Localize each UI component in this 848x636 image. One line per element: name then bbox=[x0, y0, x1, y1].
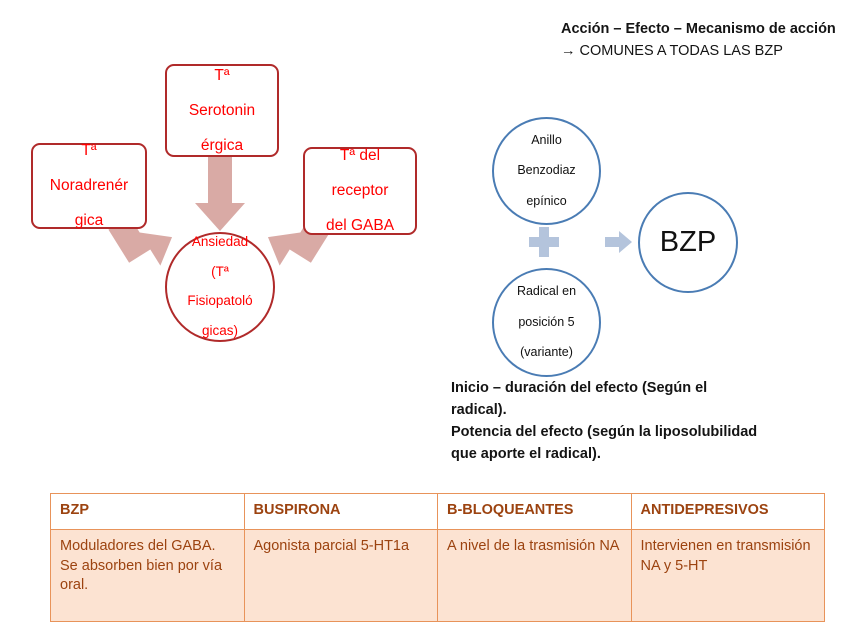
box-receptor-gaba-text: Tª delreceptordel GABA bbox=[305, 147, 415, 235]
circle-ansiedad-line3: Fisiopatoló bbox=[167, 294, 273, 309]
header-text: Acción – Efecto – Mecanismo de acción → … bbox=[561, 18, 846, 62]
header-plain-part: COMUNES A TODAS LAS BZP bbox=[576, 43, 783, 59]
circle-anillo-line2: Benzodiaz bbox=[494, 163, 599, 178]
notes-line4: que aporte el radical). bbox=[451, 446, 601, 462]
circle-radical-line2: posición 5 bbox=[494, 315, 599, 330]
circle-radical-text: Radical enposición 5(variante) bbox=[494, 284, 599, 360]
comparison-table: BZP BUSPIRONA B-BLOQUEANTES ANTIDEPRESIV… bbox=[50, 493, 825, 622]
plus-icon-vertical-bar bbox=[539, 227, 549, 257]
circle-ansiedad-line2: (Tª bbox=[167, 265, 273, 280]
arrow-serotoninergica-to-ansiedad bbox=[195, 157, 245, 231]
notes-line1: Inicio – duración del efecto (Según el bbox=[451, 380, 707, 396]
circle-anillo-line3: epínico bbox=[494, 194, 599, 209]
notes-text: Inicio – duración del efecto (Según el r… bbox=[451, 377, 846, 465]
table-header-bzp: BZP bbox=[51, 494, 245, 530]
table-cell-b-bloqueantes: A nivel de la trasmisión NA bbox=[438, 530, 632, 622]
table-row: Moduladores del GABA. Se absorben bien p… bbox=[51, 530, 825, 622]
circle-ansiedad-line1: Ansiedad bbox=[167, 235, 273, 250]
right-arrow-icon: → bbox=[561, 43, 576, 59]
table-cell-antidepresivos: Intervienen en transmisión NA y 5-HT bbox=[631, 530, 825, 622]
table-header-row: BZP BUSPIRONA B-BLOQUEANTES ANTIDEPRESIV… bbox=[51, 494, 825, 530]
box-serotoninergica: TªSerotoninérgica bbox=[165, 64, 279, 157]
box-receptor-gaba-line1: Tª del bbox=[305, 147, 415, 165]
circle-bzp-label: BZP bbox=[640, 228, 736, 257]
box-noradrenergica: TªNoradrenérgica bbox=[31, 143, 147, 229]
circle-anillo-text: AnilloBenzodiazepínico bbox=[494, 133, 599, 209]
circle-anillo-line1: Anillo bbox=[494, 133, 599, 148]
circle-radical-posicion-5: Radical enposición 5(variante) bbox=[492, 268, 601, 377]
circle-anillo-benzodiazepinico: AnilloBenzodiazepínico bbox=[492, 117, 601, 225]
box-serotoninergica-line2: Serotonin bbox=[167, 102, 277, 120]
notes-line3: Potencia del efecto (según la liposolubi… bbox=[451, 424, 757, 440]
table-cell-bzp: Moduladores del GABA. Se absorben bien p… bbox=[51, 530, 245, 622]
table-header-buspirona: BUSPIRONA bbox=[244, 494, 438, 530]
circle-bzp-result: BZP bbox=[638, 192, 738, 293]
box-receptor-gaba-line2: receptor bbox=[305, 182, 415, 200]
box-noradrenergica-line2: Noradrenér bbox=[33, 177, 145, 195]
table-header-antidepresivos: ANTIDEPRESIVOS bbox=[631, 494, 825, 530]
circle-radical-line3: (variante) bbox=[494, 345, 599, 360]
arrow-right-icon bbox=[605, 230, 633, 254]
plus-icon bbox=[529, 227, 559, 257]
box-serotoninergica-text: TªSerotoninérgica bbox=[167, 67, 277, 155]
circle-ansiedad-line4: gicas) bbox=[167, 324, 273, 339]
box-noradrenergica-text: TªNoradrenérgica bbox=[33, 142, 145, 230]
circle-ansiedad-text: Ansiedad(TªFisiopatológicas) bbox=[167, 235, 273, 339]
box-serotoninergica-line3: érgica bbox=[167, 137, 277, 155]
table-header-b-bloqueantes: B-BLOQUEANTES bbox=[438, 494, 632, 530]
box-receptor-gaba: Tª delreceptordel GABA bbox=[303, 147, 417, 235]
box-receptor-gaba-line3: del GABA bbox=[305, 217, 415, 235]
circle-radical-line1: Radical en bbox=[494, 284, 599, 299]
box-noradrenergica-line1: Tª bbox=[33, 142, 145, 160]
box-serotoninergica-line1: Tª bbox=[167, 67, 277, 85]
table-cell-buspirona: Agonista parcial 5-HT1a bbox=[244, 530, 438, 622]
header-bold-part: Acción – Efecto – Mecanismo de acción bbox=[561, 21, 836, 37]
circle-ansiedad: Ansiedad(TªFisiopatológicas) bbox=[165, 232, 275, 342]
notes-line2: radical). bbox=[451, 402, 507, 418]
box-noradrenergica-line3: gica bbox=[33, 212, 145, 230]
